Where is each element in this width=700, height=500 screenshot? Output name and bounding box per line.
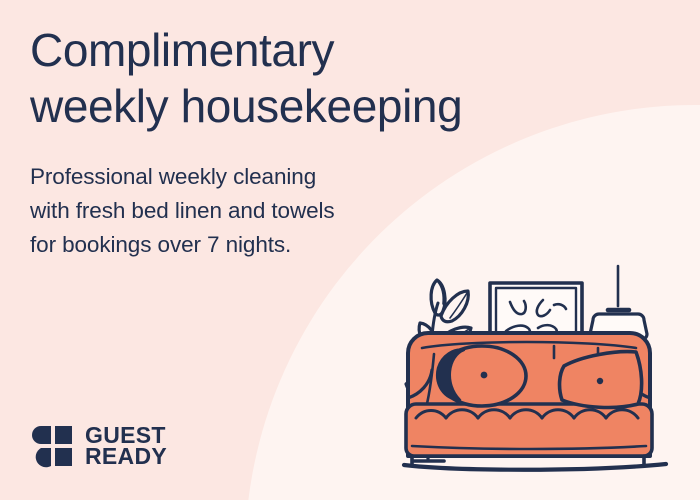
guestready-logo-mark-icon bbox=[32, 424, 74, 468]
page-title: Complimentary weekly housekeeping bbox=[30, 22, 650, 134]
brand-logo-text: GUEST READY bbox=[85, 425, 167, 467]
promo-banner: Complimentary weekly housekeeping Profes… bbox=[0, 0, 700, 500]
description-text: Professional weekly cleaning with fresh … bbox=[30, 160, 460, 262]
living-room-illustration bbox=[386, 258, 700, 500]
round-cushion bbox=[437, 346, 526, 406]
brand-logo: GUEST READY bbox=[32, 424, 167, 468]
